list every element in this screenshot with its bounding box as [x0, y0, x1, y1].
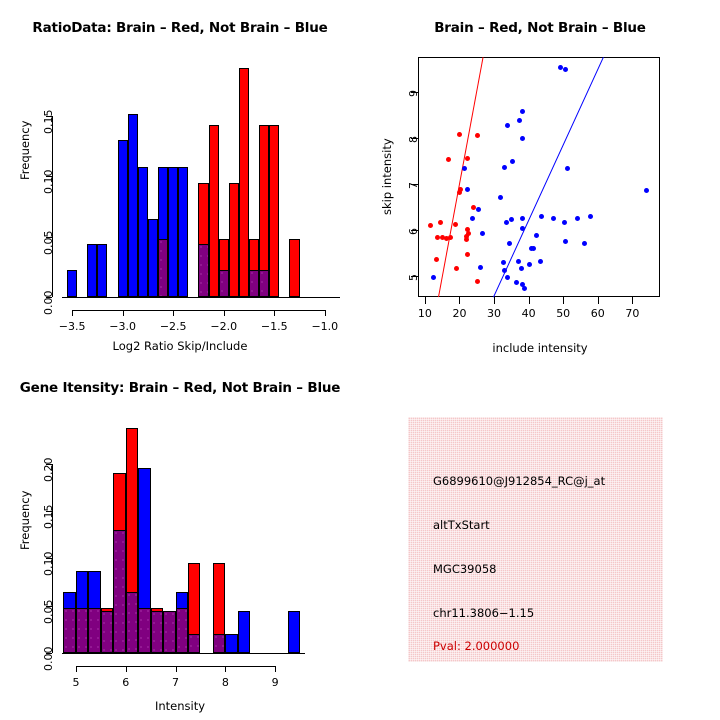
gene-hist-bar-blue	[138, 468, 150, 609]
scatter-point	[471, 205, 476, 210]
gene-hist-xtick-label: 5	[66, 676, 86, 689]
gene-hist-bar-overlap	[88, 608, 100, 653]
ratio-hist-xtick-label: −3.5	[58, 320, 86, 333]
ratio-hist-xtick-label: −1.0	[311, 320, 339, 333]
ratio-hist-xtick-label: −3.0	[109, 320, 137, 333]
info-line-event-type: altTxStart	[433, 518, 490, 532]
panel-ratio-histogram: RatioData: Brain – Red, Not Brain – Blue…	[0, 0, 360, 360]
panel-intensity-scatter: Brain – Red, Not Brain – Blue skip inten…	[360, 0, 720, 360]
ratio-hist-bar-red	[219, 239, 229, 271]
gene-hist-bar-blue	[63, 592, 75, 609]
ratio-hist-bar-red	[249, 239, 259, 271]
gene-hist-bar-overlap	[213, 634, 225, 653]
ratio-hist-xtick	[325, 310, 326, 316]
panel-gene-histogram: Gene Itensity: Brain – Red, Not Brain – …	[0, 360, 360, 720]
ratio-hist-bar-overlap	[249, 270, 259, 297]
scatter-ytick-label: 5	[407, 274, 420, 281]
ratio-hist-xtick	[224, 310, 225, 316]
gene-hist-ytick-label: 0.00	[42, 647, 55, 672]
ratio-hist-xtick-label: −1.5	[260, 320, 288, 333]
gene-hist-bar-blue	[225, 634, 237, 653]
ratio-hist-xtick-label: −2.5	[159, 320, 187, 333]
scatter-ytick-label: 8	[407, 136, 420, 143]
gene-hist-ytick-label: 0.20	[42, 457, 55, 482]
scatter-xtick	[494, 297, 495, 304]
gene-hist-bar-blue	[176, 592, 188, 609]
gene-hist-bar-blue	[88, 571, 100, 609]
gene-hist-bar-overlap	[188, 634, 200, 653]
ratio-hist-ytick-label: 0.10	[42, 170, 55, 195]
scatter-plot-area: 5678910203040506070	[360, 0, 720, 360]
info-line-probeset: G6899610@J912854_RC@j_at	[433, 474, 605, 488]
scatter-point	[446, 157, 451, 162]
gene-hist-bar-overlap	[63, 608, 75, 653]
scatter-point	[478, 265, 483, 270]
gene-hist-xtick-label: 9	[265, 676, 285, 689]
gene-hist-ytick-label: 0.15	[42, 505, 55, 530]
scatter-point	[551, 216, 556, 221]
ratio-hist-bar-blue	[138, 167, 148, 297]
scatter-point	[435, 235, 440, 240]
gene-hist-bar-overlap	[126, 592, 138, 653]
ratio-hist-xtick	[123, 310, 124, 316]
scatter-point	[465, 252, 470, 257]
gene-hist-xtick-label: 8	[215, 676, 235, 689]
gene-hist-bar-red	[213, 563, 225, 635]
scatter-point	[539, 214, 544, 219]
ratio-hist-bar-blue	[168, 167, 178, 297]
scatter-point	[504, 220, 509, 225]
scatter-point	[520, 136, 525, 141]
scatter-xtick-label: 50	[551, 307, 575, 320]
scatter-point	[514, 280, 519, 285]
gene-hist-bar-overlap	[176, 608, 188, 653]
ratio-hist-xtick	[72, 310, 73, 316]
gene-hist-xtick	[76, 666, 77, 672]
scatter-xtick	[459, 297, 460, 304]
scatter-xtick	[425, 297, 426, 304]
scatter-point	[516, 259, 521, 264]
gene-hist-bar-blue	[76, 571, 88, 609]
ratio-hist-bar-blue	[87, 244, 97, 297]
ratio-hist-xtick	[274, 310, 275, 316]
gene-hist-xtick-label: 6	[116, 676, 136, 689]
scatter-xtick-label: 20	[447, 307, 471, 320]
ratio-hist-bar-blue	[67, 270, 77, 297]
gene-hist-bar-red	[126, 428, 138, 593]
ratio-hist-ytick-label: 0.15	[42, 110, 55, 135]
ratio-hist-bar-red	[289, 239, 299, 297]
gene-hist-bar-overlap	[113, 530, 125, 653]
scatter-point	[644, 188, 649, 193]
scatter-point	[588, 214, 593, 219]
gene-hist-bar-overlap	[101, 611, 113, 653]
gene-hist-xtick	[126, 666, 127, 672]
scatter-point	[434, 257, 439, 262]
gene-info-box: G6899610@J912854_RC@j_at altTxStart MGC3…	[408, 417, 663, 662]
gene-hist-xtick	[275, 666, 276, 672]
ratio-hist-bar-red	[198, 183, 208, 245]
scatter-point	[507, 241, 512, 246]
gene-hist-bar-blue	[288, 611, 300, 653]
gene-hist-bar-blue	[238, 611, 250, 653]
ratio-hist-bar-blue	[128, 114, 138, 297]
scatter-xtick-label: 70	[620, 307, 644, 320]
scatter-point	[462, 166, 467, 171]
ratio-hist-bar-red	[259, 125, 269, 272]
gene-hist-bar-overlap	[163, 611, 175, 653]
scatter-xtick-label: 10	[413, 307, 437, 320]
gene-hist-baseline	[62, 653, 305, 654]
ratio-hist-bar-blue	[148, 219, 158, 297]
scatter-point	[428, 223, 433, 228]
ratio-hist-ytick-label: 0.00	[42, 291, 55, 316]
gene-hist-ytick-label: 0.10	[42, 552, 55, 577]
scatter-point	[465, 156, 470, 161]
gene-hist-xtick-label: 7	[166, 676, 186, 689]
scatter-point	[565, 166, 570, 171]
gene-hist-bar-red	[188, 563, 200, 635]
ratio-hist-plot-area: 0.000.050.100.15−3.5−3.0−2.5−2.0−1.5−1.0	[0, 0, 360, 360]
panel-gene-info: G6899610@J912854_RC@j_at altTxStart MGC3…	[360, 360, 720, 720]
info-line-pval: Pval: 2.000000	[433, 639, 519, 653]
gene-hist-bar-overlap	[76, 608, 88, 653]
ratio-hist-bar-overlap	[219, 270, 229, 297]
ratio-hist-bar-red	[229, 183, 239, 297]
ratio-hist-bar-blue	[118, 140, 128, 297]
info-line-gene-symbol: MGC39058	[433, 562, 496, 576]
scatter-point	[509, 217, 514, 222]
scatter-point	[522, 286, 527, 291]
ratio-hist-xaxis	[72, 310, 325, 311]
scatter-point	[527, 262, 532, 267]
figure-canvas: RatioData: Brain – Red, Not Brain – Blue…	[0, 0, 720, 720]
ratio-hist-ytick-label: 0.05	[42, 230, 55, 255]
scatter-point	[562, 220, 567, 225]
gene-hist-xtick	[176, 666, 177, 672]
gene-hist-xtick	[225, 666, 226, 672]
ratio-hist-bar-overlap	[259, 270, 269, 297]
scatter-xtick-label: 60	[586, 307, 610, 320]
scatter-ytick-label: 9	[407, 90, 420, 97]
scatter-ytick-label: 7	[407, 182, 420, 189]
scatter-xtick	[529, 297, 530, 304]
ratio-hist-yaxis	[52, 116, 53, 297]
scatter-xtick	[598, 297, 599, 304]
scatter-xtick-label: 30	[482, 307, 506, 320]
scatter-point	[457, 132, 462, 137]
gene-hist-ytick-label: 0.05	[42, 599, 55, 624]
ratio-hist-bar-blue	[158, 167, 168, 240]
ratio-hist-xtick-label: −2.0	[210, 320, 238, 333]
scatter-xtick-label: 40	[517, 307, 541, 320]
scatter-point	[501, 260, 506, 265]
ratio-hist-bar-red	[239, 68, 249, 297]
gene-hist-bar-overlap	[138, 608, 150, 653]
scatter-point	[464, 237, 469, 242]
ratio-hist-bar-red	[269, 125, 279, 297]
ratio-hist-xtick	[173, 310, 174, 316]
ratio-hist-bar-blue	[178, 167, 188, 297]
gene-hist-plot-area: 0.000.050.100.150.2056789	[0, 360, 360, 720]
ratio-hist-bar-overlap	[158, 239, 168, 297]
gene-hist-bar-red	[113, 473, 125, 531]
scatter-point	[453, 222, 458, 227]
scatter-ytick-label: 6	[407, 228, 420, 235]
scatter-point	[438, 220, 443, 225]
gene-hist-bar-overlap	[151, 611, 163, 653]
ratio-hist-bar-blue	[97, 244, 107, 297]
ratio-hist-bar-overlap	[198, 244, 208, 297]
info-line-locus: chr11.3806−1.15	[433, 606, 534, 620]
scatter-xtick	[563, 297, 564, 304]
ratio-hist-baseline	[62, 297, 340, 298]
ratio-hist-bar-red	[209, 125, 219, 297]
scatter-xtick	[632, 297, 633, 304]
scatter-point	[480, 231, 485, 236]
scatter-point	[575, 216, 580, 221]
